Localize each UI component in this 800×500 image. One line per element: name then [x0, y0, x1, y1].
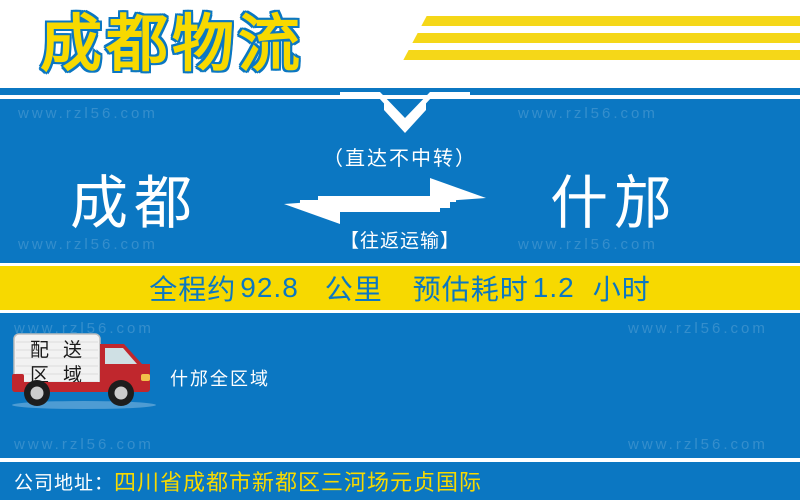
destination-city: 什邡: [550, 168, 678, 240]
origin-city: 成都: [70, 168, 198, 240]
banner-header: 成都物流: [0, 0, 800, 88]
chevron-double-down-icon: [340, 88, 470, 134]
svg-text:送: 送: [63, 339, 82, 361]
address-value: 四川省成都市新都区三河场元贞国际: [114, 465, 482, 497]
direct-shipping-note: （直达不中转）: [0, 142, 800, 171]
watermark-6: www.rzl56.com: [14, 436, 154, 453]
address-label: 公司地址：: [14, 468, 114, 495]
duration-prefix: 预估耗时: [413, 268, 529, 308]
bidirectional-arrow-icon: [280, 176, 490, 228]
distance-unit: 公里: [325, 268, 383, 308]
duration-value: 1.2: [533, 272, 575, 304]
distance-value: 92.8: [240, 272, 299, 304]
coverage-area-label: 什邡全区域: [170, 365, 270, 391]
logistics-banner: 成都物流 （直达不中转） 【往返运输】 成都 什邡: [0, 0, 800, 500]
decorative-stripes: [400, 0, 800, 88]
stripe-3: [403, 50, 800, 60]
watermark-1: www.rzl56.com: [518, 105, 658, 122]
company-address-bar: 公司地址： 四川省成都市新都区三河场元贞国际: [0, 462, 800, 500]
svg-text:配: 配: [30, 339, 49, 361]
watermark-7: www.rzl56.com: [628, 436, 768, 453]
company-logo-title: 成都物流: [40, 2, 304, 86]
stripe-1: [421, 16, 800, 26]
duration-unit: 小时: [593, 268, 651, 308]
watermark-0: www.rzl56.com: [18, 105, 158, 122]
metrics-band: 全程约92.8 公里 预估耗时1.2 小时: [0, 263, 800, 313]
stripe-2: [412, 33, 800, 43]
watermark-5: www.rzl56.com: [628, 320, 768, 337]
distance-prefix: 全程约: [149, 268, 236, 308]
delivery-truck-icon: 配 送 区 域: [8, 330, 160, 410]
